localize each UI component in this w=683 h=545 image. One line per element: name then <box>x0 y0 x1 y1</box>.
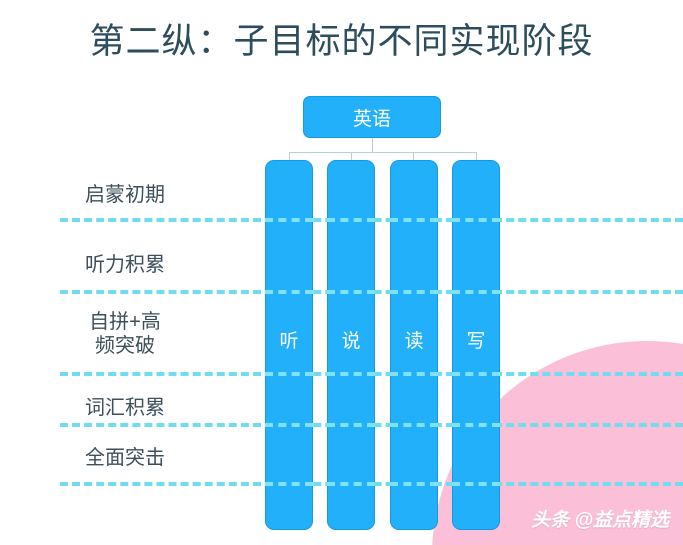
stage-label: 自拼+高频突破 <box>0 310 250 358</box>
slide-canvas: 第二纵：子目标的不同实现阶段 启蒙初期听力积累自拼+高频突破词汇积累全面突击 英… <box>0 0 683 545</box>
stage-divider-over-column <box>327 218 375 222</box>
stage-divider-over-column <box>452 482 500 486</box>
skill-column-label: 读 <box>391 331 437 353</box>
stage-label: 全面突击 <box>0 446 250 471</box>
skill-column-4[interactable]: 写 <box>452 160 500 530</box>
skill-column-label: 说 <box>328 331 374 353</box>
stage-divider-over-column <box>327 290 375 294</box>
stage-divider-over-column <box>265 290 313 294</box>
stage-label: 听力积累 <box>0 253 250 278</box>
root-node-label: 英语 <box>353 104 391 131</box>
stage-label: 词汇积累 <box>0 396 250 421</box>
skill-column-2[interactable]: 说 <box>327 160 375 530</box>
stage-divider-over-column <box>265 423 313 427</box>
stage-label-line: 全面突击 <box>0 446 250 471</box>
stage-label-line: 词汇积累 <box>0 396 250 421</box>
stage-label: 启蒙初期 <box>0 183 250 208</box>
skill-column-3[interactable]: 读 <box>390 160 438 530</box>
watermark: 头条 @益点精选 <box>531 509 669 533</box>
skill-column-label: 听 <box>266 331 312 353</box>
stage-divider-over-column <box>390 290 438 294</box>
stage-label-line: 频突破 <box>0 334 250 358</box>
stage-divider-over-column <box>452 218 500 222</box>
connector-horizontal-bus <box>289 152 476 153</box>
stage-label-line: 启蒙初期 <box>0 183 250 208</box>
page-title: 第二纵：子目标的不同实现阶段 <box>0 20 683 64</box>
stage-divider-over-column <box>390 423 438 427</box>
stage-divider-over-column <box>327 482 375 486</box>
stage-divider-over-column <box>265 482 313 486</box>
stage-divider-over-column <box>452 423 500 427</box>
stage-divider-over-column <box>327 372 375 376</box>
connector-root-stem <box>372 138 373 152</box>
stage-divider-over-column <box>452 290 500 294</box>
skill-column-1[interactable]: 听 <box>265 160 313 530</box>
stage-divider-over-column <box>390 482 438 486</box>
stage-label-line: 听力积累 <box>0 253 250 278</box>
stage-divider-over-column <box>265 218 313 222</box>
stage-divider-over-column <box>390 218 438 222</box>
stage-label-line: 自拼+高 <box>0 310 250 334</box>
root-node-english[interactable]: 英语 <box>303 96 441 138</box>
stage-divider-over-column <box>452 372 500 376</box>
stage-divider-over-column <box>265 372 313 376</box>
stage-divider-over-column <box>390 372 438 376</box>
stage-divider-over-column <box>327 423 375 427</box>
skill-column-label: 写 <box>453 331 499 353</box>
